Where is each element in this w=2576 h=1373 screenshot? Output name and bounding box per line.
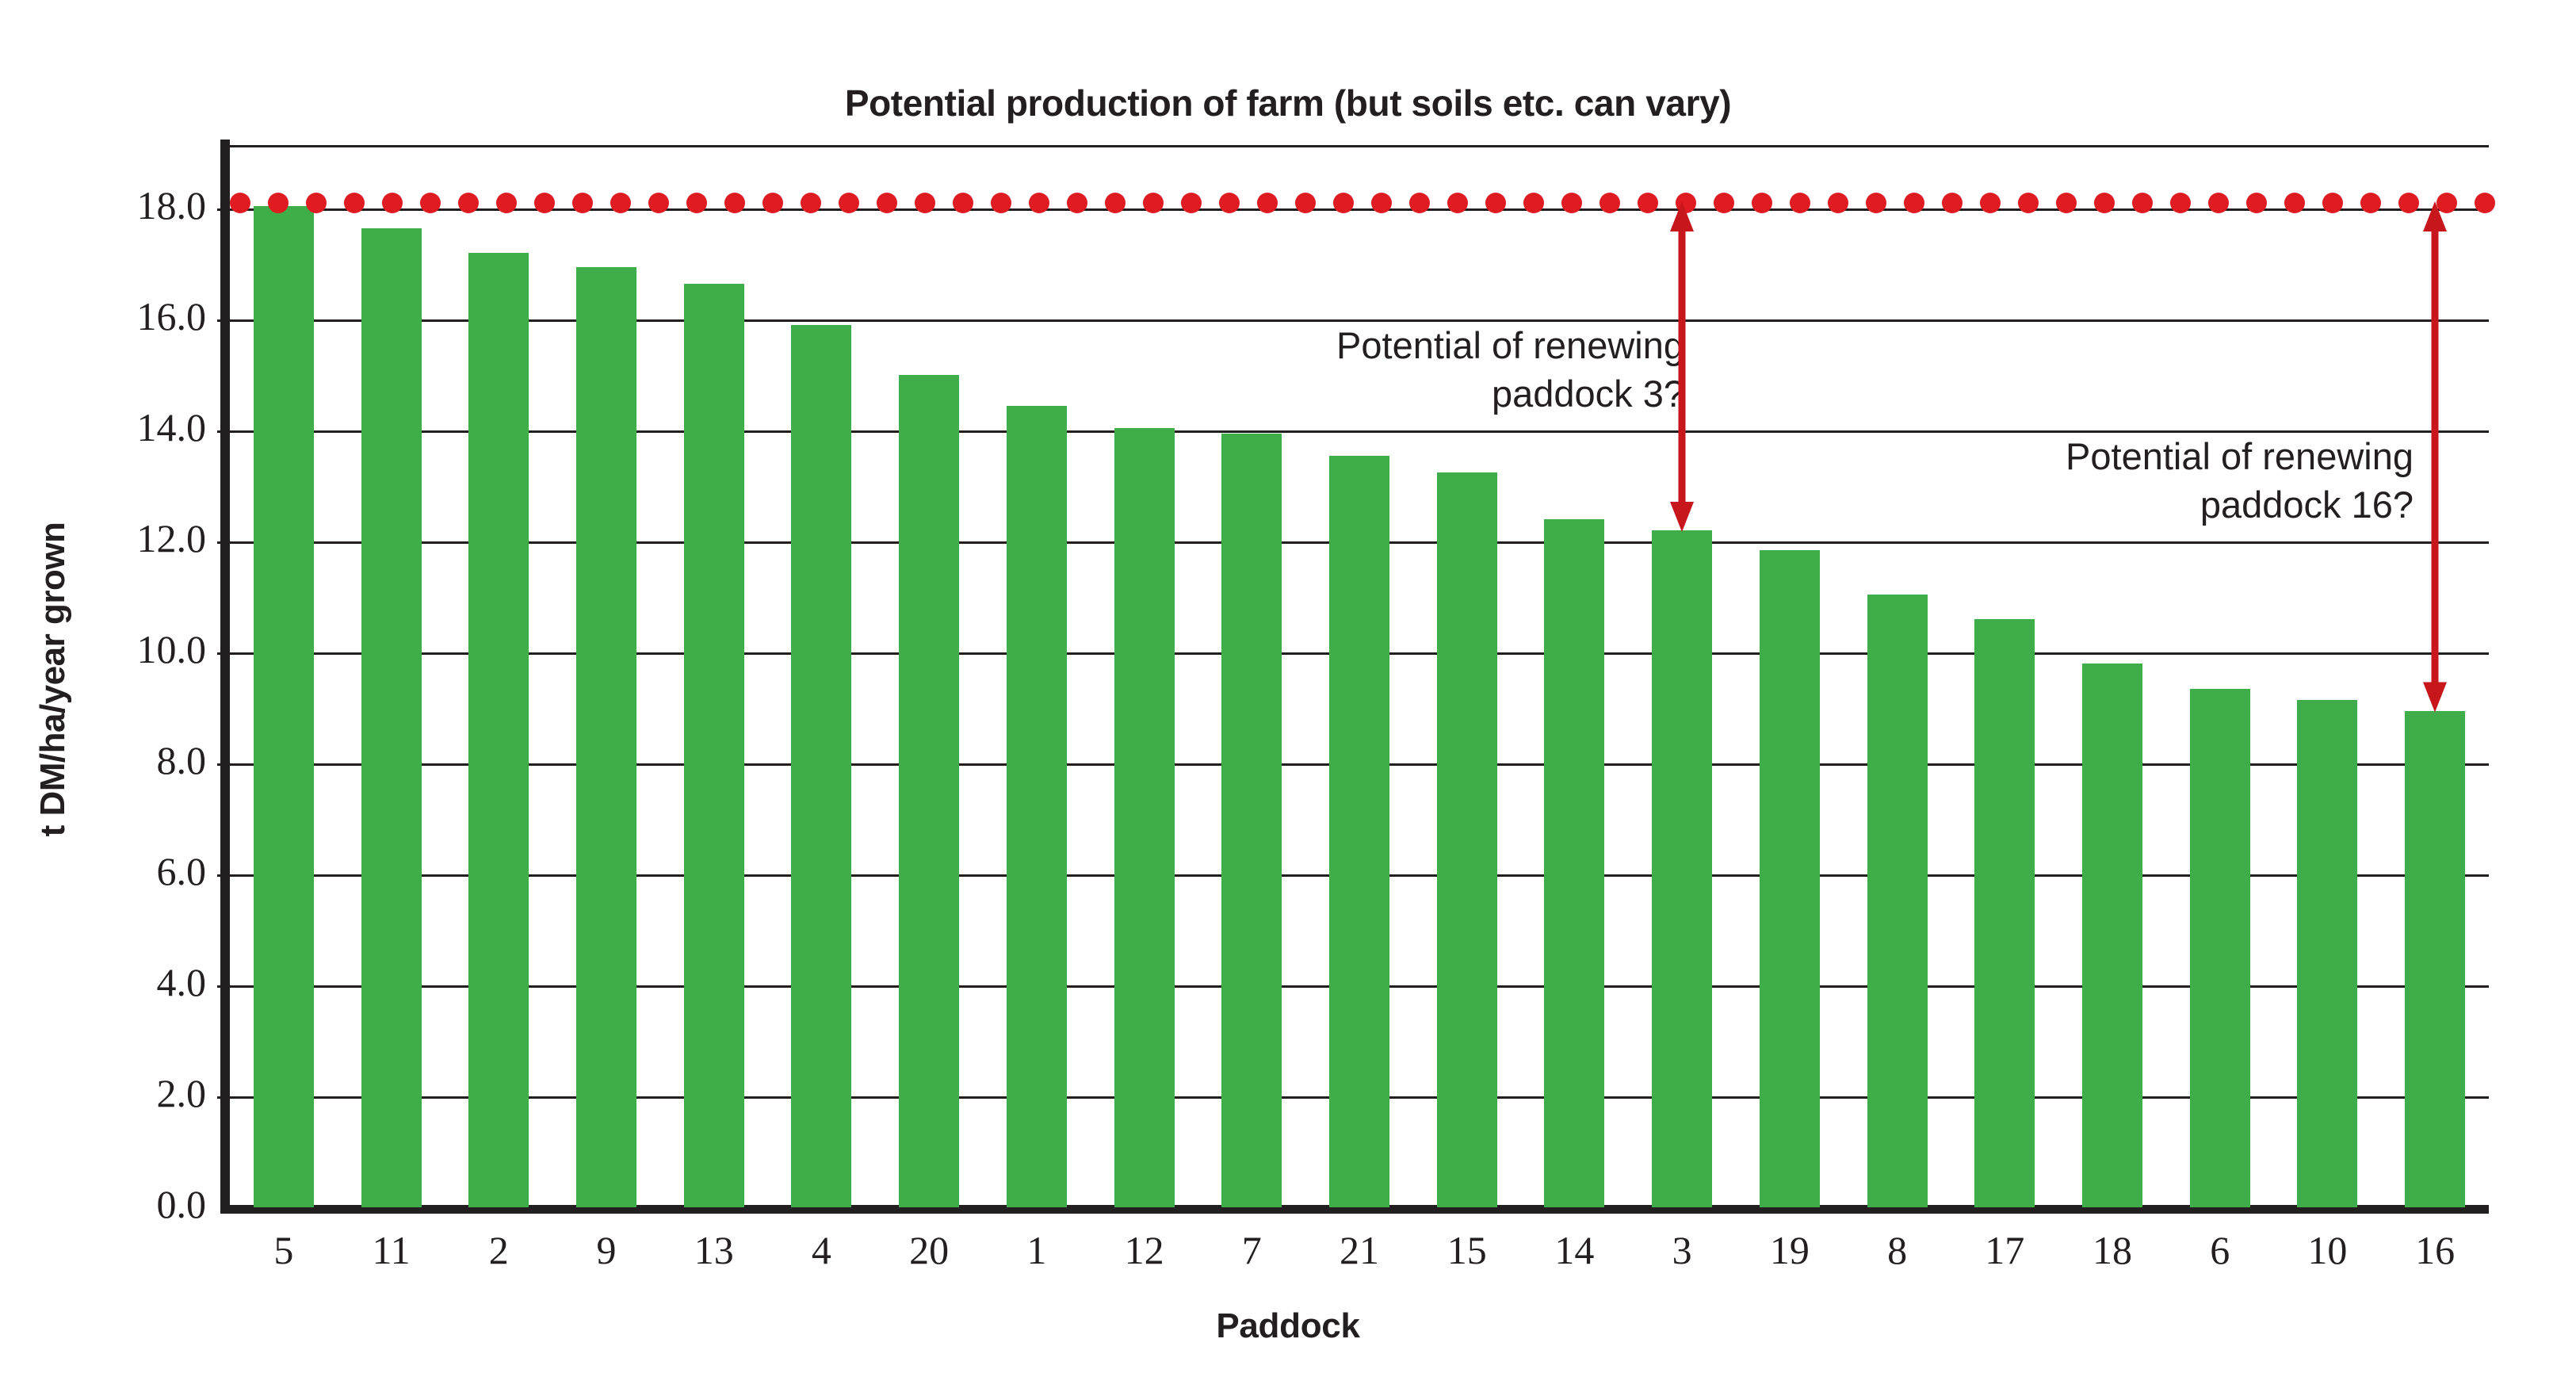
- bar[interactable]: [1652, 530, 1712, 1207]
- reference-line-dot: [991, 193, 1011, 213]
- bar[interactable]: [468, 253, 529, 1207]
- reference-line-dot: [762, 193, 783, 213]
- y-tick-label: 2.0: [63, 1070, 206, 1116]
- x-tick-label: 3: [1626, 1227, 1737, 1273]
- chart-title: Potential production of farm (but soils …: [0, 82, 2576, 124]
- y-tick-mark: [217, 1096, 230, 1099]
- y-tick-mark: [217, 985, 230, 988]
- bar[interactable]: [1867, 595, 1928, 1208]
- reference-line-dot: [2132, 193, 2153, 213]
- bar[interactable]: [1114, 428, 1175, 1208]
- x-axis-title: Paddock: [0, 1306, 2576, 1346]
- reference-line-dot: [1561, 193, 1582, 213]
- reference-line-dot: [344, 193, 365, 213]
- reference-line-dot: [2284, 193, 2305, 213]
- reference-line-dot: [686, 193, 707, 213]
- reference-line-dot: [1790, 193, 1810, 213]
- reference-line-dot: [2475, 193, 2495, 213]
- x-tick-label: 17: [1949, 1227, 2060, 1273]
- reference-line-dot: [953, 193, 973, 213]
- y-tick-mark: [217, 652, 230, 655]
- reference-line-dot: [1409, 193, 1430, 213]
- reference-line-dot: [1485, 193, 1506, 213]
- x-tick-label: 21: [1304, 1227, 1415, 1273]
- reference-line: [230, 193, 2497, 213]
- bar[interactable]: [684, 284, 744, 1208]
- y-tick-mark: [217, 319, 230, 322]
- y-axis-line: [220, 140, 230, 1212]
- reference-line-dot: [382, 193, 403, 213]
- annotation-text: Potential of renewing paddock 16?: [1756, 432, 2414, 529]
- x-tick-label: 11: [336, 1227, 447, 1273]
- reference-line-dot: [610, 193, 631, 213]
- x-tick-label: 16: [2379, 1227, 2490, 1273]
- reference-line-dot: [2170, 193, 2191, 213]
- x-tick-label: 18: [2057, 1227, 2168, 1273]
- annotation-arrow: [1658, 195, 1706, 538]
- reference-line-dot: [572, 193, 593, 213]
- bar[interactable]: [1760, 550, 1820, 1208]
- reference-line-dot: [534, 193, 555, 213]
- annotation-arrow: [2411, 195, 2459, 719]
- reference-line-dot: [1219, 193, 1240, 213]
- x-tick-label: 9: [551, 1227, 662, 1273]
- reference-line-dot: [1752, 193, 1772, 213]
- bar[interactable]: [1544, 519, 1604, 1207]
- reference-line-dot: [801, 193, 821, 213]
- y-tick-label: 18.0: [63, 182, 206, 228]
- reference-line-dot: [2322, 193, 2343, 213]
- reference-line-dot: [1866, 193, 1886, 213]
- reference-line-dot: [2094, 193, 2115, 213]
- reference-line-dot: [724, 193, 745, 213]
- bar[interactable]: [899, 375, 959, 1207]
- reference-line-dot: [1181, 193, 1202, 213]
- bar[interactable]: [1221, 434, 1282, 1208]
- reference-line-dot: [1257, 193, 1278, 213]
- y-tick-label: 14.0: [63, 404, 206, 450]
- reference-line-dot: [2208, 193, 2229, 213]
- x-tick-label: 12: [1089, 1227, 1200, 1273]
- reference-line-dot: [1828, 193, 1848, 213]
- bar[interactable]: [1974, 619, 2035, 1207]
- bar[interactable]: [2190, 689, 2250, 1208]
- reference-line-dot: [1067, 193, 1087, 213]
- y-tick-label: 6.0: [63, 848, 206, 894]
- x-tick-label: 7: [1196, 1227, 1307, 1273]
- reference-line-dot: [2018, 193, 2039, 213]
- bar[interactable]: [361, 228, 422, 1208]
- y-tick-label: 4.0: [63, 959, 206, 1005]
- bar[interactable]: [1329, 456, 1389, 1208]
- reference-line-dot: [2246, 193, 2267, 213]
- reference-line-dot: [268, 193, 289, 213]
- bar[interactable]: [2082, 664, 2142, 1207]
- reference-line-dot: [420, 193, 441, 213]
- reference-line-dot: [1599, 193, 1620, 213]
- x-tick-label: 6: [2165, 1227, 2276, 1273]
- reference-line-dot: [1523, 193, 1544, 213]
- y-tick-mark: [217, 541, 230, 544]
- y-tick-label: 16.0: [63, 293, 206, 339]
- reference-line-dot: [1447, 193, 1468, 213]
- reference-line-dot: [306, 193, 327, 213]
- reference-line-dot: [1105, 193, 1126, 213]
- reference-line-dot: [1942, 193, 1963, 213]
- x-tick-label: 5: [228, 1227, 339, 1273]
- x-tick-label: 14: [1519, 1227, 1630, 1273]
- x-tick-label: 20: [873, 1227, 984, 1273]
- reference-line-dot: [1904, 193, 1924, 213]
- reference-line-dot: [648, 193, 669, 213]
- x-tick-label: 13: [659, 1227, 770, 1273]
- plot-area: [230, 145, 2489, 1207]
- reference-line-dot: [458, 193, 479, 213]
- bar[interactable]: [1437, 472, 1497, 1208]
- plot-top-frame: [230, 145, 2489, 147]
- reference-line-dot: [839, 193, 859, 213]
- reference-line-dot: [1295, 193, 1316, 213]
- x-tick-label: 1: [981, 1227, 1092, 1273]
- y-tick-mark: [217, 874, 230, 877]
- reference-line-dot: [1029, 193, 1049, 213]
- y-tick-label: 8.0: [63, 737, 206, 783]
- y-tick-mark: [217, 430, 230, 433]
- bar[interactable]: [2297, 700, 2357, 1208]
- reference-line-dot: [2056, 193, 2077, 213]
- y-tick-label: 12.0: [63, 515, 206, 561]
- y-tick-mark: [217, 763, 230, 766]
- reference-line-dot: [1143, 193, 1164, 213]
- x-tick-label: 15: [1412, 1227, 1523, 1273]
- reference-line-dot: [1638, 193, 1658, 213]
- reference-line-dot: [1714, 193, 1734, 213]
- chart-container: Potential production of farm (but soils …: [0, 0, 2576, 1373]
- reference-line-dot: [877, 193, 897, 213]
- reference-line-dot: [496, 193, 517, 213]
- bar[interactable]: [2405, 711, 2465, 1208]
- reference-line-dot: [915, 193, 935, 213]
- reference-line-dot: [1980, 193, 2001, 213]
- reference-line-dot: [230, 193, 250, 213]
- x-tick-label: 19: [1734, 1227, 1845, 1273]
- reference-line-dot: [2360, 193, 2381, 213]
- x-tick-label: 2: [443, 1227, 554, 1273]
- x-tick-label: 10: [2272, 1227, 2383, 1273]
- y-tick-label: 10.0: [63, 626, 206, 672]
- bar[interactable]: [791, 325, 851, 1207]
- bar[interactable]: [1007, 406, 1067, 1208]
- bar[interactable]: [576, 267, 636, 1208]
- x-tick-label: 4: [766, 1227, 877, 1273]
- reference-line-dot: [1371, 193, 1392, 213]
- reference-line-dot: [1333, 193, 1354, 213]
- annotation-text: Potential of renewing paddock 3?: [1161, 321, 1684, 418]
- y-tick-mark: [217, 208, 230, 211]
- bar[interactable]: [254, 206, 314, 1208]
- y-tick-label: 0.0: [63, 1181, 206, 1227]
- x-tick-label: 8: [1842, 1227, 1953, 1273]
